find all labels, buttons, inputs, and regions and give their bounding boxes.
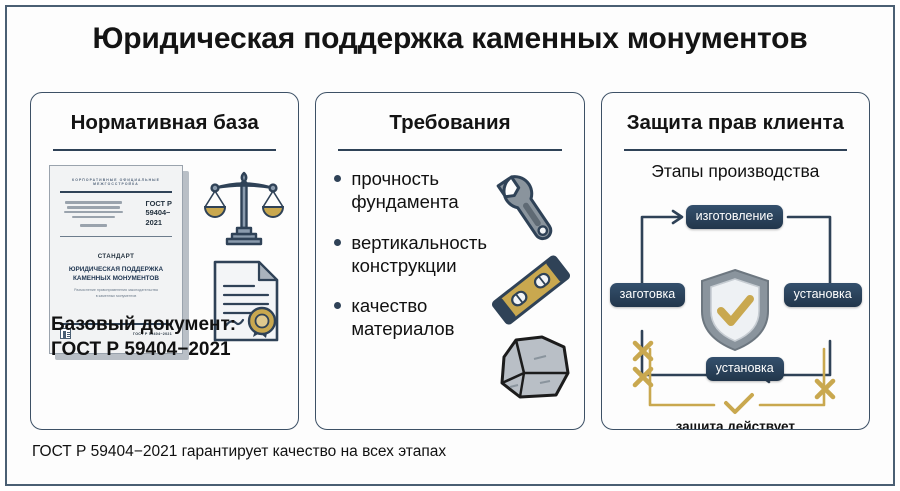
requirements-list: прочность фундамента вертикальность конс… — [334, 167, 512, 358]
panels-row: Нормативная база КОРПОРАТИВНЫЕ ОФИЦИАЛЬН… — [30, 92, 870, 430]
list-item: вертикальность конструкции — [334, 231, 512, 278]
flow-node-izgotovlenie[interactable]: изготовление — [686, 205, 784, 229]
stone-block-icon — [494, 333, 574, 406]
panel-title-protection: Защита прав клиента — [602, 111, 869, 135]
protection-active-note: защита действует — [602, 419, 869, 430]
document-subtitle: Разъяснение правоприменения законодатель… — [60, 288, 172, 299]
requirement-label: вертикальность конструкции — [351, 231, 487, 278]
panel-requirements: Требования прочность фундамента вертикал… — [315, 92, 584, 430]
requirement-label: прочность фундамента — [351, 167, 458, 214]
panel-requirements-body: прочность фундамента вертикальность конс… — [316, 151, 583, 391]
bullet-dot-icon — [334, 239, 341, 246]
panel-title-regulatory: Нормативная база — [31, 111, 298, 135]
document-header-text: КОРПОРАТИВНЫЕ ОФИЦИАЛЬНЫЕ МЕЖГОССТРОЙКА — [60, 178, 172, 186]
document-mid-block: ГОСТ Р 59404− 2021 — [60, 199, 172, 229]
flow-node-ustanovka-bottom[interactable]: установка — [706, 357, 784, 381]
panel-protection-body: Этапы производства — [602, 161, 869, 401]
document-title: ЮРИДИЧЕСКАЯ ПОДДЕРЖКА КАМЕННЫХ МОНУМЕНТО… — [60, 266, 172, 283]
footer-text: ГОСТ Р 59404−2021 гарантирует качество н… — [32, 443, 446, 461]
panel-regulatory-body: КОРПОРАТИВНЫЕ ОФИЦИАЛЬНЫЕ МЕЖГОССТРОЙКА — [31, 151, 298, 376]
panel-client-rights-protection: Защита прав клиента Этапы производства — [601, 92, 870, 430]
infographic-root: Юридическая поддержка каменных монументо… — [0, 0, 900, 491]
spirit-level-icon — [488, 247, 574, 338]
flow-node-ustanovka-right[interactable]: установка — [784, 283, 862, 307]
shield-check-icon — [698, 267, 772, 353]
list-item: качество материалов — [334, 294, 512, 341]
scales-of-justice-icon — [201, 163, 287, 254]
flow-subheading: Этапы производства — [602, 161, 869, 182]
page-title: Юридическая поддержка каменных монументо… — [0, 22, 900, 56]
bullet-dot-icon — [334, 175, 341, 182]
document-placeholder-lines — [60, 199, 127, 229]
document-standard-label: СТАНДАРТ — [60, 253, 172, 260]
requirement-label: качество материалов — [351, 294, 454, 341]
document-divider — [60, 236, 172, 237]
panel-title-requirements: Требования — [316, 111, 583, 135]
base-document-caption: Базовый документ: ГОСТ Р 59404−2021 — [51, 313, 236, 362]
list-item: прочность фундамента — [334, 167, 512, 214]
flow-node-zagotovka[interactable]: заготовка — [610, 283, 686, 307]
document-gost-code: ГОСТ Р 59404− 2021 — [146, 199, 173, 227]
panel-regulatory-base: Нормативная база КОРПОРАТИВНЫЕ ОФИЦИАЛЬН… — [30, 92, 299, 430]
bullet-dot-icon — [334, 302, 341, 309]
panel-rule — [624, 149, 847, 151]
wrench-icon — [494, 167, 568, 250]
document-top-bar — [60, 191, 172, 193]
